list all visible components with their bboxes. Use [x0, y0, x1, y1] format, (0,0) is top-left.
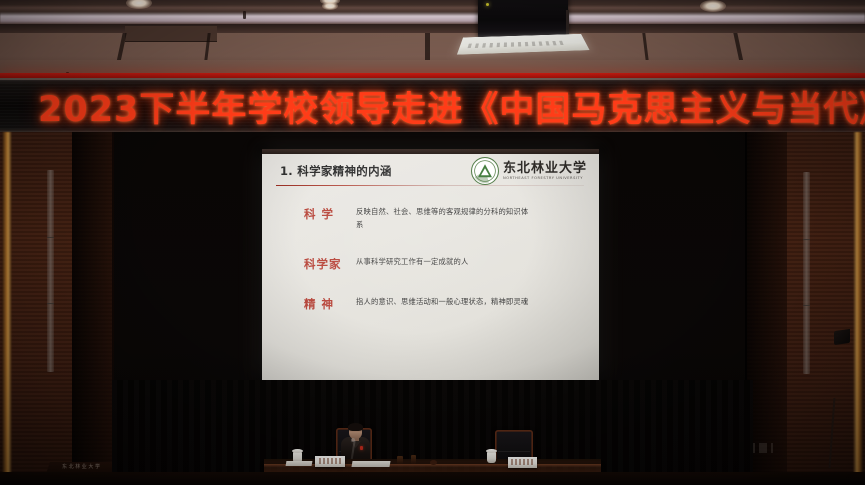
slide-title-rule	[276, 185, 584, 186]
university-logo-texts: 东北林业大学 NORTHEAST FORESTRY UNIVERSITY	[503, 162, 587, 181]
left-vertical-light-strip	[47, 170, 54, 372]
ceiling-projector	[478, 0, 568, 38]
slide-title: 1. 科学家精神的内涵	[280, 163, 471, 179]
microphone-head-icon	[351, 438, 355, 442]
slide-definition-row: 科 学 反映自然、社会、思维等的客观规律的分科的知识体系	[282, 206, 579, 232]
left-amber-light-edge	[2, 132, 12, 485]
foreground-floor	[0, 472, 865, 485]
slide-header: 1. 科学家精神的内涵 东北林业大学 NORTHEAST FORESTRY UN…	[262, 154, 599, 188]
wall-speaker-icon	[834, 329, 850, 345]
right-vertical-light-strip	[803, 172, 810, 374]
definition-text: 从事科学研究工作有一定成就的人	[356, 256, 468, 269]
projection-screen: 1. 科学家精神的内涵 东北林业大学 NORTHEAST FORESTRY UN…	[262, 149, 599, 384]
projector-led-icon	[486, 3, 489, 6]
definition-term: 科学家	[282, 256, 356, 272]
slide-body: 科 学 反映自然、社会、思维等的客观规律的分科的知识体系 科学家 从事科学研究工…	[262, 188, 599, 384]
speaker-hair	[348, 423, 363, 431]
table-object	[397, 456, 403, 464]
chair-seam	[498, 451, 530, 452]
teacup	[487, 452, 496, 463]
table-object	[411, 455, 416, 464]
papers-on-table	[351, 461, 390, 467]
university-name-cn: 东北林业大学	[503, 162, 587, 175]
definition-term: 精 神	[282, 296, 356, 312]
left-wall-plaque-text: 东北林业大学	[62, 463, 102, 470]
table-object	[430, 460, 437, 465]
definition-text: 指人的意识、思维活动和一般心理状态，精神即灵魂	[356, 296, 528, 309]
presentation-slide: 1. 科学家精神的内涵 东北林业大学 NORTHEAST FORESTRY UN…	[262, 154, 599, 384]
led-banner: 2023下半年学校领导走进《中国马克思主义与当代》课	[0, 78, 865, 134]
ceiling-light-band	[0, 12, 865, 24]
led-banner-text: 2023下半年学校领导走进《中国马克思主义与当代》课	[38, 81, 865, 132]
definition-text: 反映自然、社会、思维等的客观规律的分科的知识体系	[356, 206, 532, 232]
downlight-icon	[700, 0, 726, 12]
ceiling-panel-box	[125, 26, 217, 42]
name-placard	[508, 457, 537, 468]
lecture-hall-photo: 2023下半年学校领导走进《中国马克思主义与当代》课 东北林业大学 1. 科学家…	[0, 0, 865, 485]
name-placard	[315, 456, 345, 467]
downlight-icon	[322, 2, 338, 10]
speaker-red-badge	[360, 446, 363, 450]
slide-definition-row: 科学家 从事科学研究工作有一定成就的人	[282, 256, 579, 272]
definition-term: 科 学	[282, 206, 356, 222]
left-wall-column	[72, 132, 114, 485]
ceiling-hook	[243, 11, 246, 19]
university-logo: 东北林业大学 NORTHEAST FORESTRY UNIVERSITY	[471, 157, 587, 185]
right-amber-light-edge	[853, 132, 863, 485]
seal-inner-triangle-icon	[481, 168, 489, 175]
papers-on-table	[286, 461, 313, 466]
university-seal-icon	[471, 157, 499, 185]
university-name-en: NORTHEAST FORESTRY UNIVERSITY	[503, 177, 587, 181]
slide-definition-row: 精 神 指人的意识、思维活动和一般心理状态，精神即灵魂	[282, 296, 579, 312]
